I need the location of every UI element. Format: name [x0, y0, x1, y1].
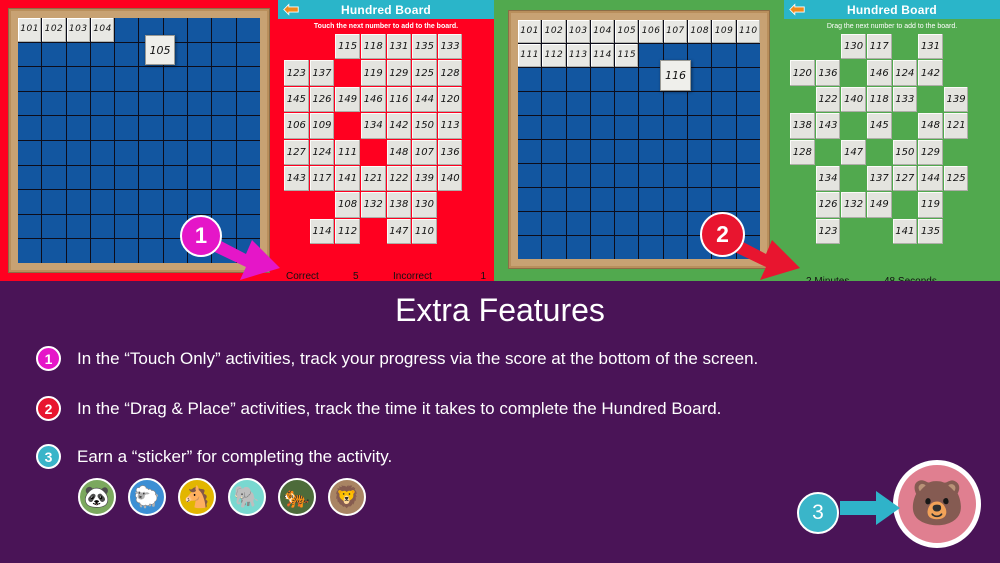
board-cell[interactable]: 159 — [212, 141, 235, 165]
scatter-number-tile[interactable]: 110 — [412, 219, 437, 244]
scatter-empty-slot — [463, 219, 488, 244]
scatter-number-tile[interactable]: 140 — [438, 166, 463, 191]
board-cell[interactable]: 104 — [91, 18, 114, 42]
board-cell[interactable]: 167 — [164, 166, 187, 190]
board-cell[interactable]: 141 — [18, 116, 41, 140]
board-cell[interactable]: 171 — [18, 190, 41, 214]
scatter-number-tile[interactable]: 144 — [918, 166, 943, 191]
scatter-empty-slot — [969, 192, 994, 217]
scatter-number-tile[interactable]: 128 — [438, 60, 463, 85]
board-cell[interactable]: 131 — [18, 92, 41, 116]
board-cell[interactable]: 118 — [188, 43, 211, 67]
board-cell[interactable]: 108 — [188, 18, 211, 42]
sticker-row: 🐼🐑🐴🐘🐅🦁 — [78, 478, 366, 516]
board-cell[interactable]: 163 — [567, 164, 590, 187]
back-arrow-icon[interactable] — [282, 3, 300, 16]
scatter-number-tile[interactable]: 118 — [361, 34, 386, 59]
scatter-empty-slot — [463, 34, 488, 59]
board-cell[interactable]: 148 — [188, 116, 211, 140]
board-cell[interactable]: 135 — [615, 92, 638, 115]
board-cell[interactable]: 153 — [67, 141, 90, 165]
board-cell[interactable]: 157 — [664, 140, 687, 163]
board-cell[interactable]: 137 — [164, 92, 187, 116]
board-cell[interactable]: 194 — [591, 236, 614, 259]
board-cell[interactable]: 120 — [237, 43, 260, 67]
board-cell[interactable]: 196 — [639, 236, 662, 259]
board-cell[interactable]: 193 — [67, 239, 90, 263]
board-cell[interactable]: 176 — [139, 190, 162, 214]
board-cell[interactable]: 173 — [67, 190, 90, 214]
scatter-number-tile[interactable]: 129 — [918, 140, 943, 165]
scatter-number-tile[interactable]: 141 — [335, 166, 360, 191]
board-cell[interactable]: 184 — [591, 212, 614, 235]
panel4-number-scatter[interactable]: 1301171311201361461241421221401181331391… — [790, 34, 994, 244]
board-cell[interactable]: 180 — [737, 188, 760, 211]
board-cell[interactable]: 129 — [212, 67, 235, 91]
scatter-number-tile[interactable]: 141 — [893, 219, 918, 244]
board-cell[interactable]: 167 — [664, 164, 687, 187]
board-cell[interactable]: 131 — [518, 92, 541, 115]
board-cell[interactable]: 187 — [664, 212, 687, 235]
panel4-subtitle: Drag the next number to add to the board… — [784, 23, 1000, 30]
board-cell[interactable]: 179 — [712, 188, 735, 211]
board-cell[interactable]: 115 — [115, 43, 138, 67]
board-cell[interactable]: 136 — [639, 92, 662, 115]
panel2-subtitle: Touch the next number to add to the boar… — [278, 23, 494, 30]
board-cell[interactable]: 183 — [67, 215, 90, 239]
scatter-empty-slot — [790, 34, 815, 59]
scatter-number-tile[interactable]: 148 — [918, 113, 943, 138]
scatter-empty-slot — [310, 192, 335, 217]
scatter-number-tile[interactable]: 107 — [412, 140, 437, 165]
board-cell[interactable]: 130 — [737, 68, 760, 91]
board-cell[interactable]: 174 — [91, 190, 114, 214]
board-cell[interactable]: 129 — [712, 68, 735, 91]
scatter-number-tile[interactable]: 123 — [816, 219, 841, 244]
board-cell[interactable]: 157 — [164, 141, 187, 165]
board-cell[interactable]: 165 — [115, 166, 138, 190]
scatter-number-tile[interactable]: 130 — [841, 34, 866, 59]
board-cell[interactable]: 162 — [542, 164, 565, 187]
board-cell[interactable]: 147 — [664, 116, 687, 139]
scatter-number-tile[interactable]: 131 — [387, 34, 412, 59]
scatter-empty-slot — [893, 34, 918, 59]
board-cell[interactable]: 158 — [188, 141, 211, 165]
scatter-number-tile[interactable]: 123 — [284, 60, 309, 85]
scatter-number-tile[interactable]: 131 — [918, 34, 943, 59]
scatter-empty-slot — [944, 219, 969, 244]
board-cell[interactable]: 114 — [91, 43, 114, 67]
scatter-number-tile[interactable]: 121 — [944, 113, 969, 138]
scatter-number-tile[interactable]: 137 — [867, 166, 892, 191]
board-cell[interactable]: 194 — [91, 239, 114, 263]
board-cell[interactable]: 113 — [567, 44, 590, 67]
scatter-number-tile[interactable]: 138 — [790, 113, 815, 138]
scatter-empty-slot — [438, 219, 463, 244]
board-cell[interactable]: 136 — [139, 92, 162, 116]
scatter-number-tile[interactable]: 125 — [412, 60, 437, 85]
scatter-number-tile[interactable]: 150 — [893, 140, 918, 165]
board-cell[interactable]: 123 — [67, 67, 90, 91]
board-cell[interactable]: 174 — [591, 188, 614, 211]
scatter-number-tile[interactable]: 106 — [284, 113, 309, 138]
board-cell[interactable]: 142 — [42, 116, 65, 140]
board-cell[interactable]: 119 — [212, 43, 235, 67]
board-cell[interactable]: 186 — [139, 215, 162, 239]
scatter-empty-slot — [867, 140, 892, 165]
scatter-number-tile[interactable]: 139 — [944, 87, 969, 112]
board-cell[interactable]: 104 — [591, 20, 614, 43]
board-cell[interactable]: 143 — [67, 116, 90, 140]
board-cell[interactable]: 135 — [115, 92, 138, 116]
scatter-number-tile[interactable]: 109 — [310, 113, 335, 138]
board-cell[interactable]: 176 — [639, 188, 662, 211]
scatter-number-tile[interactable]: 142 — [387, 113, 412, 138]
lion-sticker-icon: 🦁 — [328, 478, 366, 516]
board-cell[interactable]: 151 — [18, 141, 41, 165]
board-cell[interactable]: 150 — [737, 116, 760, 139]
board-cell[interactable]: 160 — [737, 140, 760, 163]
scatter-number-tile[interactable]: 150 — [412, 113, 437, 138]
scatter-number-tile[interactable]: 119 — [361, 60, 386, 85]
board-cell[interactable]: 139 — [712, 92, 735, 115]
board-cell[interactable]: 149 — [712, 116, 735, 139]
floating-number-tile[interactable]: 116 — [660, 60, 691, 91]
board-cell[interactable]: 166 — [139, 166, 162, 190]
scatter-empty-slot — [944, 60, 969, 85]
board-cell[interactable]: 138 — [688, 92, 711, 115]
board-cell[interactable]: 192 — [42, 239, 65, 263]
board-cell[interactable]: 166 — [639, 164, 662, 187]
board-cell[interactable]: 164 — [591, 164, 614, 187]
back-arrow-icon[interactable] — [788, 3, 806, 16]
board-cell[interactable]: 140 — [737, 92, 760, 115]
board-cell[interactable]: 146 — [139, 116, 162, 140]
board-cell[interactable]: 142 — [542, 116, 565, 139]
board-cell[interactable]: 177 — [664, 188, 687, 211]
scatter-number-tile[interactable]: 126 — [310, 87, 335, 112]
board-cell[interactable]: 195 — [615, 236, 638, 259]
board-cell[interactable]: 125 — [115, 67, 138, 91]
board-cell[interactable]: 171 — [518, 188, 541, 211]
scatter-number-tile[interactable]: 134 — [361, 113, 386, 138]
scatter-number-tile[interactable]: 138 — [387, 192, 412, 217]
board-cell[interactable]: 103 — [567, 20, 590, 43]
board-cell[interactable]: 112 — [42, 43, 65, 67]
board-cell[interactable]: 148 — [688, 116, 711, 139]
board-cell[interactable]: 192 — [542, 236, 565, 259]
board-cell[interactable]: 170 — [237, 166, 260, 190]
board-cell[interactable]: 124 — [591, 68, 614, 91]
board-cell[interactable]: 196 — [139, 239, 162, 263]
board-cell[interactable]: 112 — [542, 44, 565, 67]
scatter-number-tile[interactable]: 112 — [335, 219, 360, 244]
board-cell[interactable]: 169 — [212, 166, 235, 190]
board-cell[interactable]: 111 — [518, 44, 541, 67]
scatter-empty-slot — [284, 219, 309, 244]
feature-row-2: 2 In the “Drag & Place” activities, trac… — [36, 396, 721, 421]
board-cell[interactable]: 137 — [664, 92, 687, 115]
board-cell[interactable]: 153 — [567, 140, 590, 163]
tiger-sticker-icon: 🐅 — [278, 478, 316, 516]
scatter-empty-slot — [284, 34, 309, 59]
scatter-number-tile[interactable]: 116 — [387, 87, 412, 112]
scatter-number-tile[interactable]: 122 — [816, 87, 841, 112]
screenshot-drag-place-scatter[interactable]: Hundred Board Drag the next number to ad… — [784, 0, 1000, 281]
board-cell[interactable]: 177 — [164, 190, 187, 214]
board-cell[interactable]: 140 — [237, 92, 260, 116]
board-cell[interactable]: 123 — [567, 68, 590, 91]
scatter-number-tile[interactable]: 125 — [944, 166, 969, 191]
feature-row-3: 3 Earn a “sticker” for completing the ac… — [36, 444, 392, 469]
board-cell[interactable]: 173 — [567, 188, 590, 211]
board-cell[interactable]: 151 — [518, 140, 541, 163]
scatter-number-tile[interactable]: 135 — [918, 219, 943, 244]
scatter-number-tile[interactable]: 145 — [867, 113, 892, 138]
board-cell[interactable]: 185 — [615, 212, 638, 235]
board-cell[interactable]: 195 — [115, 239, 138, 263]
board-cell[interactable]: 120 — [737, 44, 760, 67]
feature-row-1: 1 In the “Touch Only” activities, track … — [36, 346, 758, 371]
board-cell[interactable]: 128 — [188, 67, 211, 91]
board-cell[interactable]: 184 — [91, 215, 114, 239]
board-cell[interactable]: 160 — [237, 141, 260, 165]
board-cell[interactable]: 102 — [42, 18, 65, 42]
board-cell[interactable]: 183 — [567, 212, 590, 235]
scatter-number-tile[interactable]: 121 — [361, 166, 386, 191]
board-cell[interactable]: 132 — [42, 92, 65, 116]
scatter-number-tile[interactable]: 144 — [412, 87, 437, 112]
scatter-number-tile[interactable]: 149 — [335, 87, 360, 112]
scatter-number-tile[interactable]: 127 — [893, 166, 918, 191]
board-cell[interactable]: 162 — [42, 166, 65, 190]
board-cell[interactable]: 127 — [164, 67, 187, 91]
board-cell[interactable]: 154 — [591, 140, 614, 163]
callout-badge-1: 1 — [180, 215, 222, 257]
board-cell[interactable]: 103 — [67, 18, 90, 42]
board-cell[interactable]: 191 — [518, 236, 541, 259]
scatter-empty-slot — [463, 60, 488, 85]
scatter-number-tile[interactable]: 127 — [284, 140, 309, 165]
board-cell[interactable]: 156 — [139, 141, 162, 165]
scatter-number-tile[interactable]: 143 — [284, 166, 309, 191]
board-cell[interactable]: 125 — [615, 68, 638, 91]
scatter-number-tile[interactable]: 135 — [412, 34, 437, 59]
scatter-number-tile[interactable]: 124 — [893, 60, 918, 85]
board-cell[interactable]: 122 — [42, 67, 65, 91]
board-cell[interactable]: 111 — [18, 43, 41, 67]
scatter-number-tile[interactable]: 108 — [335, 192, 360, 217]
board-cell[interactable]: 161 — [18, 166, 41, 190]
board-cell[interactable]: 165 — [615, 164, 638, 187]
board-cell[interactable]: 110 — [737, 20, 760, 43]
scatter-number-tile[interactable]: 119 — [918, 192, 943, 217]
board-cell[interactable]: 146 — [639, 116, 662, 139]
board-cell[interactable]: 115 — [615, 44, 638, 67]
panel2-number-scatter[interactable]: 1151181311351331231371191291251281451261… — [284, 34, 488, 244]
scatter-number-tile[interactable]: 146 — [361, 87, 386, 112]
correct-value: 5 — [353, 271, 359, 282]
board-cell[interactable]: 159 — [712, 140, 735, 163]
board-cell[interactable]: 175 — [115, 190, 138, 214]
scatter-number-tile[interactable]: 149 — [867, 192, 892, 217]
scatter-number-tile[interactable]: 130 — [412, 192, 437, 217]
scatter-number-tile[interactable]: 111 — [335, 140, 360, 165]
scatter-number-tile[interactable]: 143 — [816, 113, 841, 138]
board-cell[interactable]: 105 — [615, 20, 638, 43]
board-cell[interactable]: 175 — [615, 188, 638, 211]
board-cell[interactable]: 168 — [688, 164, 711, 187]
board-cell[interactable]: 161 — [518, 164, 541, 187]
scatter-number-tile[interactable]: 113 — [438, 113, 463, 138]
board-cell[interactable]: 179 — [212, 190, 235, 214]
board-cell[interactable]: 121 — [18, 67, 41, 91]
scatter-number-tile[interactable]: 118 — [867, 87, 892, 112]
board-cell[interactable]: 191 — [18, 239, 41, 263]
board-cell[interactable]: 144 — [91, 116, 114, 140]
scatter-number-tile[interactable]: 122 — [387, 166, 412, 191]
incorrect-value: 1 — [480, 271, 486, 282]
scatter-number-tile[interactable]: 148 — [387, 140, 412, 165]
scatter-number-tile[interactable]: 120 — [438, 87, 463, 112]
board-cell[interactable]: 147 — [164, 116, 187, 140]
scatter-number-tile[interactable]: 129 — [387, 60, 412, 85]
scatter-number-tile[interactable]: 126 — [816, 192, 841, 217]
board-cell[interactable]: 145 — [115, 116, 138, 140]
board-cell[interactable]: 170 — [737, 164, 760, 187]
board-cell[interactable]: 126 — [139, 67, 162, 91]
board-cell[interactable]: 128 — [688, 68, 711, 91]
board-cell[interactable]: 134 — [91, 92, 114, 116]
board-cell[interactable]: 185 — [115, 215, 138, 239]
scatter-number-tile[interactable]: 137 — [310, 60, 335, 85]
scatter-number-tile[interactable]: 146 — [867, 60, 892, 85]
board-cell[interactable]: 122 — [542, 68, 565, 91]
board-cell[interactable]: 109 — [212, 18, 235, 42]
scatter-number-tile[interactable]: 142 — [918, 60, 943, 85]
scatter-number-tile[interactable]: 132 — [361, 192, 386, 217]
board-cell[interactable]: 172 — [42, 190, 65, 214]
board-cell[interactable]: 110 — [237, 18, 260, 42]
board-cell[interactable]: 101 — [518, 20, 541, 43]
scatter-number-tile[interactable]: 145 — [284, 87, 309, 112]
board-cell[interactable]: 109 — [712, 20, 735, 43]
scatter-number-tile[interactable]: 136 — [438, 140, 463, 165]
board-cell[interactable]: 155 — [115, 141, 138, 165]
scatter-number-tile[interactable]: 139 — [412, 166, 437, 191]
board-cell[interactable]: 152 — [42, 141, 65, 165]
board-cell[interactable]: 134 — [591, 92, 614, 115]
board-cell[interactable]: 156 — [639, 140, 662, 163]
board-cell[interactable]: 118 — [688, 44, 711, 67]
board-cell[interactable]: 181 — [18, 215, 41, 239]
board-cell[interactable]: 113 — [67, 43, 90, 67]
scatter-number-tile[interactable]: 140 — [841, 87, 866, 112]
donkey-sticker-icon: 🐴 — [178, 478, 216, 516]
board-cell[interactable]: 121 — [518, 68, 541, 91]
board-cell[interactable]: 141 — [518, 116, 541, 139]
board-cell[interactable]: 154 — [91, 141, 114, 165]
board-cell[interactable]: 108 — [688, 20, 711, 43]
bear-sticker-icon: 🐻 — [893, 460, 981, 548]
board-cell[interactable]: 181 — [518, 212, 541, 235]
board-cell[interactable]: 178 — [688, 188, 711, 211]
page-title: Extra Features — [0, 292, 1000, 329]
board-cell[interactable]: 107 — [664, 20, 687, 43]
board-cell[interactable]: 143 — [567, 116, 590, 139]
board-cell[interactable]: 178 — [188, 190, 211, 214]
board-cell[interactable]: 169 — [712, 164, 735, 187]
board-cell[interactable]: 168 — [188, 166, 211, 190]
board-cell[interactable]: 182 — [542, 212, 565, 235]
scatter-number-tile[interactable]: 124 — [310, 140, 335, 165]
board-cell[interactable]: 180 — [237, 190, 260, 214]
board-cell[interactable]: 164 — [91, 166, 114, 190]
board-cell[interactable]: 158 — [688, 140, 711, 163]
screenshot-touch-only-scatter[interactable]: Hundred Board Touch the next number to a… — [278, 0, 494, 281]
board-cell[interactable]: 130 — [237, 67, 260, 91]
board-cell[interactable]: 102 — [542, 20, 565, 43]
board-cell[interactable]: 182 — [42, 215, 65, 239]
scatter-number-tile[interactable]: 136 — [816, 60, 841, 85]
screenshots-strip: 1011021031041051061071081091101111121131… — [0, 0, 1000, 281]
scatter-number-tile[interactable]: 147 — [841, 140, 866, 165]
board-cell[interactable]: 133 — [567, 92, 590, 115]
board-cell[interactable]: 139 — [212, 92, 235, 116]
scatter-number-tile[interactable]: 133 — [893, 87, 918, 112]
board-cell[interactable]: 145 — [615, 116, 638, 139]
board-cell[interactable]: 163 — [67, 166, 90, 190]
board-cell[interactable]: 114 — [591, 44, 614, 67]
board-cell[interactable]: 186 — [639, 212, 662, 235]
board-cell[interactable]: 155 — [615, 140, 638, 163]
board-cell[interactable]: 124 — [91, 67, 114, 91]
scatter-number-tile[interactable]: 133 — [438, 34, 463, 59]
scatter-number-tile[interactable]: 117 — [867, 34, 892, 59]
board-cell[interactable]: 149 — [212, 116, 235, 140]
feature-text-3: Earn a “sticker” for completing the acti… — [77, 447, 392, 467]
board-cell[interactable]: 132 — [542, 92, 565, 115]
board-cell[interactable]: 150 — [237, 116, 260, 140]
board-cell[interactable]: 133 — [67, 92, 90, 116]
scatter-empty-slot — [969, 113, 994, 138]
scatter-number-tile[interactable]: 128 — [790, 140, 815, 165]
board-cell[interactable]: 106 — [639, 20, 662, 43]
board-cell[interactable]: 105 — [115, 18, 138, 42]
scatter-number-tile[interactable]: 115 — [335, 34, 360, 59]
board-cell[interactable]: 193 — [567, 236, 590, 259]
scatter-number-tile[interactable]: 117 — [310, 166, 335, 191]
scatter-empty-slot — [944, 34, 969, 59]
scatter-empty-slot — [918, 87, 943, 112]
scatter-empty-slot — [335, 113, 360, 138]
scatter-number-tile[interactable]: 134 — [816, 166, 841, 191]
floating-number-tile[interactable]: 105 — [145, 35, 175, 65]
board-cell[interactable]: 197 — [664, 236, 687, 259]
scatter-number-tile[interactable]: 114 — [310, 219, 335, 244]
board-cell[interactable]: 172 — [542, 188, 565, 211]
incorrect-label: Incorrect — [393, 271, 432, 282]
board-cell[interactable]: 119 — [712, 44, 735, 67]
board-cell[interactable]: 101 — [18, 18, 41, 42]
board-cell[interactable]: 138 — [188, 92, 211, 116]
board-cell[interactable]: 144 — [591, 116, 614, 139]
scatter-number-tile[interactable]: 132 — [841, 192, 866, 217]
board-cell[interactable]: 152 — [542, 140, 565, 163]
scatter-number-tile[interactable]: 120 — [790, 60, 815, 85]
scatter-number-tile[interactable]: 147 — [387, 219, 412, 244]
timer-minutes: 2 Minutes — [806, 276, 849, 281]
